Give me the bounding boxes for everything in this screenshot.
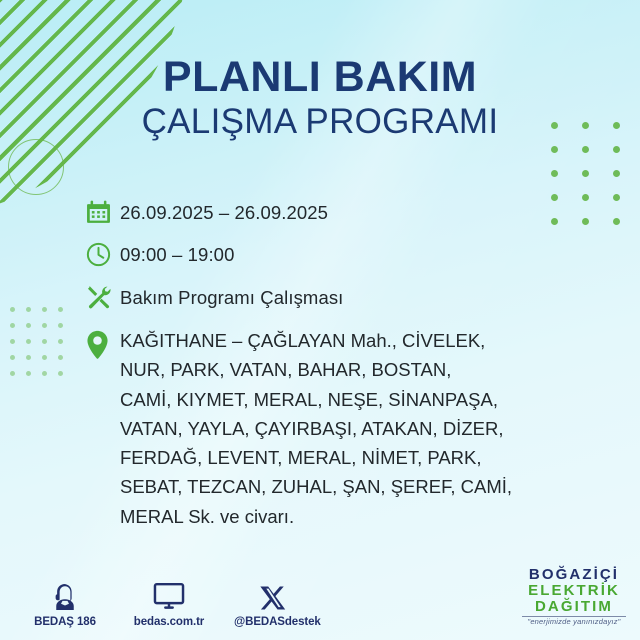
footer-label-website: bedas.com.tr bbox=[130, 616, 208, 628]
calendar-icon bbox=[86, 199, 120, 225]
page-title: PLANLI BAKIM ÇALIŞMA PROGRAMI bbox=[0, 56, 640, 141]
brand-line-bogazici: BOĞAZİÇİ bbox=[522, 567, 626, 583]
footer-item-call-center[interactable]: BEDAŞ 186 bbox=[26, 578, 104, 628]
footer-label-social: @BEDASdestek bbox=[234, 616, 312, 628]
monitor-icon bbox=[130, 578, 208, 612]
info-row-work-type: Bakım Programı Çalışması bbox=[86, 284, 544, 310]
date-value: 26.09.2025 – 26.09.2025 bbox=[120, 199, 328, 225]
clock-icon bbox=[86, 241, 120, 267]
brand-logo: BOĞAZİÇİ ELEKTRİK DAĞITIM "enerjimizde y… bbox=[522, 567, 626, 626]
dot-grid-left-decoration bbox=[10, 307, 74, 387]
time-value: 09:00 – 19:00 bbox=[120, 241, 234, 267]
footer-item-website[interactable]: bedas.com.tr bbox=[130, 578, 208, 628]
location-value: KAĞITHANE – ÇAĞLAYAN Mah., CİVELEK, NUR,… bbox=[120, 326, 512, 531]
location-pin-icon bbox=[86, 326, 120, 359]
x-social-icon bbox=[234, 578, 312, 612]
circle-outline-decoration bbox=[8, 139, 64, 195]
brand-tagline: "enerjimizde yanınızdayız" bbox=[522, 618, 626, 626]
footer-item-social[interactable]: @BEDASdestek bbox=[234, 578, 312, 628]
info-row-time: 09:00 – 19:00 bbox=[86, 241, 544, 267]
footer: BEDAŞ 186 bedas.com.tr @BEDASdestek BOĞA… bbox=[0, 568, 640, 640]
info-row-location: KAĞITHANE – ÇAĞLAYAN Mah., CİVELEK, NUR,… bbox=[86, 326, 544, 531]
footer-label-call-center: BEDAŞ 186 bbox=[26, 616, 104, 628]
brand-line-elektrik: ELEKTRİK bbox=[522, 583, 626, 599]
maintenance-info-list: 26.09.2025 – 26.09.2025 09:00 – 19:00 Ba… bbox=[86, 199, 544, 531]
info-row-date: 26.09.2025 – 26.09.2025 bbox=[86, 199, 544, 225]
title-subtitle: ÇALIŞMA PROGRAMI bbox=[0, 104, 640, 141]
footer-contact-links: BEDAŞ 186 bedas.com.tr @BEDASdestek bbox=[26, 578, 312, 628]
work-type-value: Bakım Programı Çalışması bbox=[120, 284, 343, 310]
brand-line-dagitim: DAĞITIM bbox=[522, 599, 626, 615]
support-agent-icon bbox=[26, 578, 104, 612]
tools-icon bbox=[86, 284, 120, 310]
title-main: PLANLI BAKIM bbox=[0, 56, 640, 100]
